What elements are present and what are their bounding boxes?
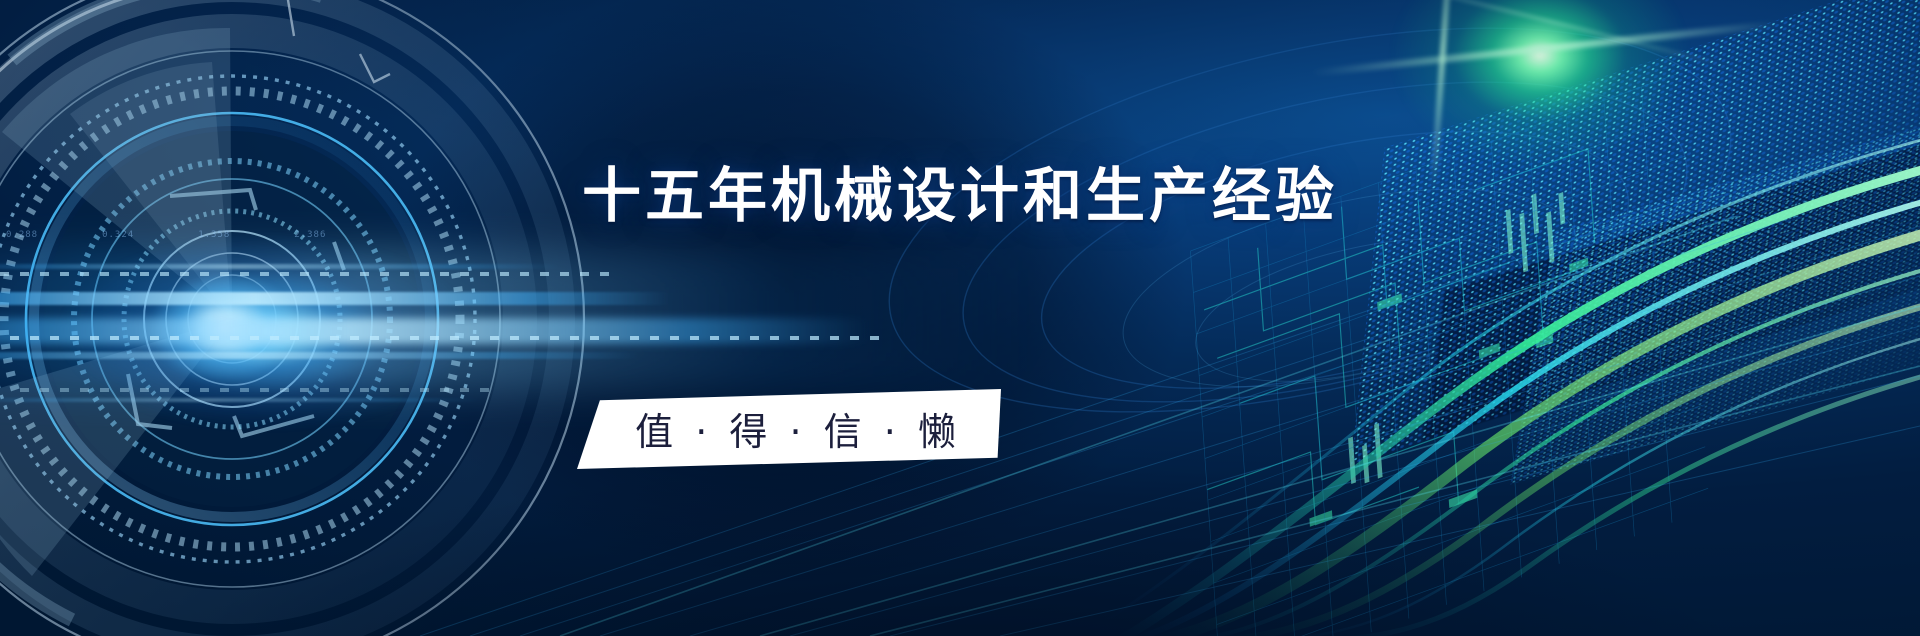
tagline-box: 值 · 得 · 信 · 懒 xyxy=(577,389,1001,469)
banner-headline: 十五年机械设计和生产经验 xyxy=(0,166,1920,225)
background-vignette xyxy=(0,0,1920,636)
hero-banner: 0.288 0.324 1.358 2.386 十五年机械设计和生产经验 值 ·… xyxy=(0,0,1920,636)
tagline-text: 值 · 得 · 信 · 懒 xyxy=(577,389,1001,469)
